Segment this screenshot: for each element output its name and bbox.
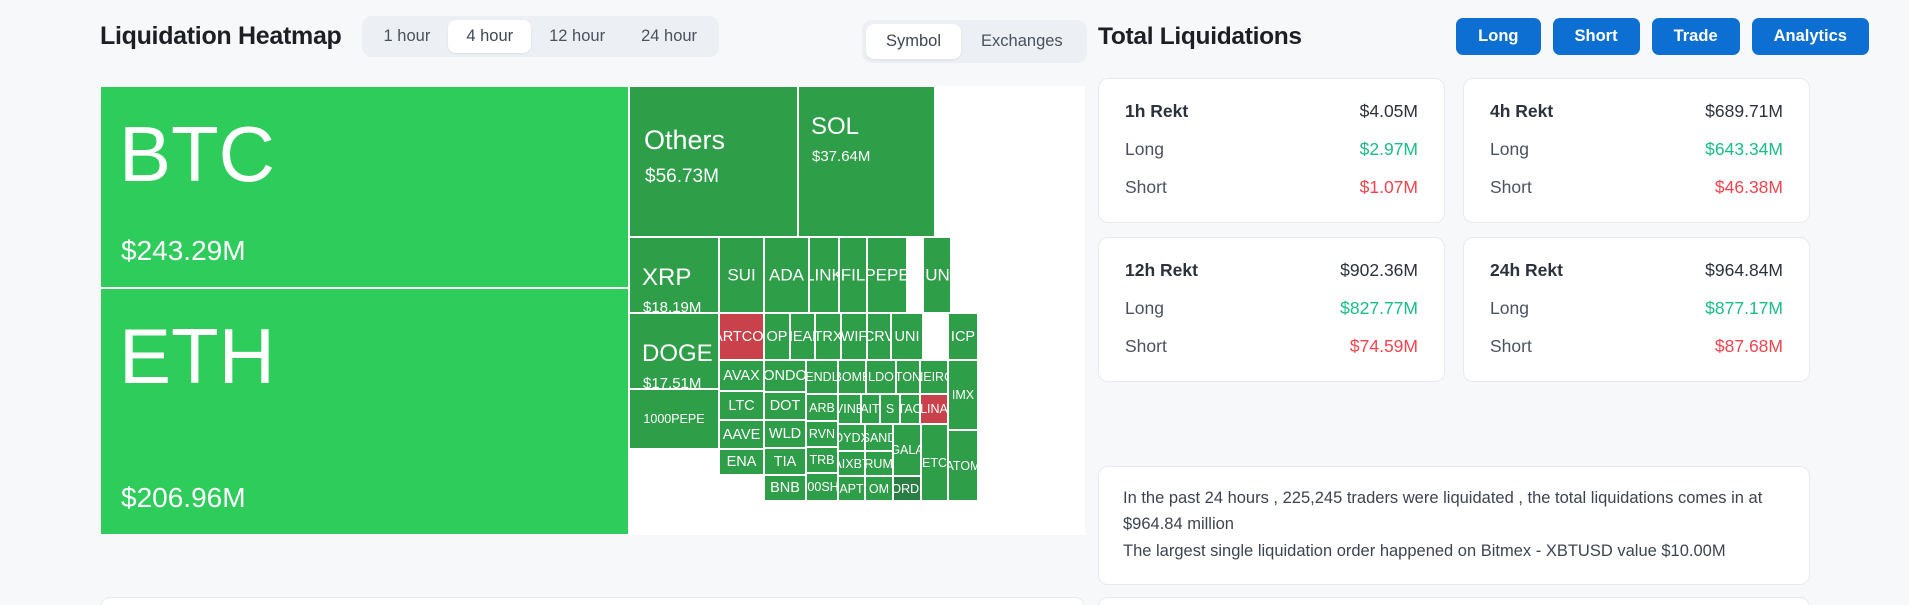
- tile-symbol: Others: [644, 127, 725, 154]
- tile-symbol: XRP: [642, 266, 691, 290]
- tile-symbol: LINA: [920, 403, 948, 416]
- treemap-tile-s[interactable]: S: [880, 394, 900, 424]
- treemap-tile-sand[interactable]: SAND: [865, 424, 893, 451]
- tile-value: $206.96M: [121, 484, 246, 512]
- tile-symbol: DYDX: [838, 431, 865, 444]
- treemap-tile-near[interactable]: NEAR: [790, 313, 815, 360]
- short-value: $1.07M: [1360, 177, 1418, 198]
- tile-symbol: ATOM: [948, 459, 978, 472]
- treemap-tile-lina[interactable]: LINA: [920, 394, 948, 424]
- tile-symbol: LINK: [809, 267, 839, 284]
- short-label: Short: [1490, 336, 1532, 357]
- treemap-tile-fartcoin[interactable]: FARTCOIN: [719, 313, 764, 360]
- rekt-long-row: Long $827.77M: [1125, 298, 1418, 319]
- tile-symbol: LDO: [868, 371, 894, 384]
- short-value: $46.38M: [1715, 177, 1783, 198]
- long-label: Long: [1125, 298, 1164, 319]
- treemap-tile-uni[interactable]: UNI: [891, 313, 923, 360]
- timeframe-1-hour[interactable]: 1 hour: [366, 20, 449, 53]
- rekt-total-value: $964.84M: [1705, 260, 1783, 281]
- tile-value: $17.51M: [643, 376, 701, 389]
- rekt-short-row: Short $74.59M: [1125, 336, 1418, 357]
- long-value: $2.97M: [1360, 139, 1418, 160]
- total-liquidations-header: Total Liquidations Long Short Trade Anal…: [1098, 18, 1869, 55]
- treemap-tile-wif[interactable]: WIF: [841, 313, 867, 360]
- below-fold-card-right: [1098, 597, 1810, 605]
- tile-symbol: TAO: [900, 403, 920, 416]
- tile-symbol: IMX: [952, 389, 974, 402]
- short-label: Short: [1125, 177, 1167, 198]
- liquidation-treemap[interactable]: BTC$243.29METH$206.96MOthers$56.73MSOL$3…: [100, 86, 1085, 535]
- liquidation-summary-card: In the past 24 hours , 225,245 traders w…: [1098, 466, 1810, 585]
- tile-symbol: ORDI: [893, 482, 921, 495]
- tile-symbol: TIA: [774, 454, 797, 469]
- treemap-tile-rvn[interactable]: RVN: [806, 421, 838, 447]
- treemap-tile-xrp[interactable]: XRP$18.19M: [629, 237, 719, 313]
- tile-symbol: ENA: [727, 455, 757, 470]
- treemap-tile-sui[interactable]: SUI: [719, 237, 764, 313]
- tile-symbol: AIXBT: [838, 457, 865, 470]
- tile-symbol: BOME: [838, 371, 866, 384]
- rekt-period-label: 1h Rekt: [1125, 101, 1188, 122]
- tile-symbol: TRUMP: [865, 457, 893, 470]
- rekt-card-4h: 4h Rekt $689.71M Long $643.34M Short $46…: [1463, 78, 1810, 223]
- tile-symbol: FARTCOIN: [719, 329, 764, 344]
- treemap-tile-kaito[interactable]: KAITO: [861, 394, 880, 424]
- treemap-tile-1000shib[interactable]: 1000SHIB: [806, 473, 838, 501]
- liquidation-dashboard: Liquidation Heatmap 1 hour 4 hour 12 hou…: [0, 0, 1909, 605]
- treemap-tile-icp[interactable]: ICP: [948, 313, 978, 360]
- tile-symbol: TRX: [815, 329, 841, 344]
- treemap-tile-ltc[interactable]: LTC: [719, 391, 764, 420]
- tile-symbol: UNI: [895, 329, 920, 344]
- tile-symbol: RVN: [809, 428, 835, 441]
- treemap-tile-gala[interactable]: GALA: [893, 424, 921, 476]
- tile-symbol: SAND: [865, 431, 893, 444]
- tile-value: $18.19M: [643, 300, 701, 313]
- rekt-short-row: Short $1.07M: [1125, 177, 1418, 198]
- treemap-tile-vine[interactable]: VINE: [838, 394, 861, 424]
- long-value: $827.77M: [1340, 298, 1418, 319]
- treemap-tile-tia[interactable]: TIA: [764, 448, 806, 475]
- tile-symbol: NEIRO: [920, 371, 948, 384]
- treemap-tile-pendle[interactable]: PENDLE: [806, 360, 838, 394]
- rekt-card-24h: 24h Rekt $964.84M Long $877.17M Short $8…: [1463, 237, 1810, 382]
- treemap-tile-bnb[interactable]: BNB: [764, 475, 806, 501]
- rekt-card-grid: 1h Rekt $4.05M Long $2.97M Short $1.07M …: [1098, 78, 1810, 382]
- short-label: Short: [1490, 177, 1532, 198]
- rekt-long-row: Long $2.97M: [1125, 139, 1418, 160]
- treemap-tile-tao[interactable]: TAO: [900, 394, 920, 424]
- treemap-tile-op[interactable]: OP: [764, 313, 790, 360]
- tile-symbol: TRB: [810, 454, 835, 467]
- tile-symbol: 1000PEPE: [643, 413, 704, 426]
- tile-symbol: PEPE: [867, 267, 907, 284]
- treemap-tile-sol[interactable]: SOL$37.64M: [798, 86, 935, 237]
- short-label: Short: [1125, 336, 1167, 357]
- tile-symbol: OP: [767, 329, 788, 344]
- treemap-tile-trx[interactable]: TRX: [815, 313, 841, 360]
- tile-symbol: DOT: [770, 399, 801, 414]
- tile-symbol: ETH: [119, 317, 275, 395]
- analytics-button[interactable]: Analytics: [1752, 18, 1869, 55]
- rekt-total-value: $4.05M: [1360, 101, 1418, 122]
- treemap-tile-ada[interactable]: ADA: [764, 237, 809, 313]
- summary-line-1: In the past 24 hours , 225,245 traders w…: [1123, 485, 1785, 538]
- treemap-tile-link[interactable]: LINK: [809, 237, 839, 313]
- short-button[interactable]: Short: [1553, 18, 1640, 55]
- treemap-tile-ldo[interactable]: LDO: [866, 360, 896, 394]
- tile-symbol: LTC: [728, 398, 754, 413]
- treemap-tile-dydx[interactable]: DYDX: [838, 424, 865, 451]
- treemap-tile-crv[interactable]: CRV: [867, 313, 891, 360]
- tile-symbol: FIL: [841, 267, 866, 284]
- tile-symbol: ICP: [951, 329, 975, 344]
- treemap-tile-imx[interactable]: IMX: [948, 360, 978, 430]
- trade-button[interactable]: Trade: [1652, 18, 1740, 55]
- long-button[interactable]: Long: [1456, 18, 1540, 55]
- treemap-tile-apt[interactable]: APT: [838, 476, 865, 501]
- treemap-tile-wld[interactable]: WLD: [764, 420, 806, 448]
- tile-symbol: NEAR: [790, 329, 815, 344]
- tile-symbol: 1000SHIB: [806, 481, 838, 494]
- rekt-card-12h: 12h Rekt $902.36M Long $827.77M Short $7…: [1098, 237, 1445, 382]
- tile-symbol: AAVE: [723, 427, 761, 442]
- rekt-period-label: 12h Rekt: [1125, 260, 1198, 281]
- timeframe-segmented-control: 1 hour 4 hour 12 hour 24 hour: [362, 16, 720, 57]
- tile-value: $37.64M: [812, 149, 870, 164]
- rekt-card-1h: 1h Rekt $4.05M Long $2.97M Short $1.07M: [1098, 78, 1445, 223]
- long-label: Long: [1125, 139, 1164, 160]
- tile-symbol: BNB: [770, 481, 800, 496]
- timeframe-4-hour[interactable]: 4 hour: [448, 20, 531, 53]
- treemap-tile-dot[interactable]: DOT: [764, 392, 806, 420]
- rekt-total-value: $689.71M: [1705, 101, 1783, 122]
- rekt-period-label: 4h Rekt: [1490, 101, 1553, 122]
- rekt-long-row: Long $643.34M: [1490, 139, 1783, 160]
- long-value: $643.34M: [1705, 139, 1783, 160]
- tile-value: $56.73M: [645, 167, 719, 186]
- treemap-tile-doge[interactable]: DOGE$17.51M: [629, 313, 719, 389]
- timeframe-24-hour[interactable]: 24 hour: [623, 20, 715, 53]
- tile-symbol: ADA: [769, 267, 804, 284]
- tile-value: $243.29M: [121, 237, 246, 265]
- tile-symbol: SUI: [727, 267, 755, 284]
- treemap-tile-arb[interactable]: ARB: [806, 394, 838, 421]
- rekt-total-row: 1h Rekt $4.05M: [1125, 101, 1418, 122]
- tile-symbol: RUNE: [923, 267, 951, 284]
- total-liquidations-title: Total Liquidations: [1098, 23, 1302, 51]
- tile-symbol: OM: [869, 482, 889, 495]
- tile-symbol: WLD: [769, 427, 801, 442]
- short-value: $87.68M: [1715, 336, 1783, 357]
- tile-symbol: BTC: [119, 115, 275, 193]
- treemap-tile-others[interactable]: Others$56.73M: [629, 86, 798, 237]
- tile-symbol: TON: [896, 371, 920, 384]
- summary-line-2: The largest single liquidation order hap…: [1123, 538, 1785, 564]
- treemap-tile-trump[interactable]: TRUMP: [865, 451, 893, 476]
- timeframe-12-hour[interactable]: 12 hour: [531, 20, 623, 53]
- rekt-short-row: Short $46.38M: [1490, 177, 1783, 198]
- rekt-short-row: Short $87.68M: [1490, 336, 1783, 357]
- tile-symbol: S: [886, 403, 894, 416]
- tile-symbol: ETC: [922, 456, 947, 469]
- rekt-total-value: $902.36M: [1340, 260, 1418, 281]
- treemap-tile-ondo[interactable]: ONDO: [764, 360, 806, 392]
- rekt-total-row: 24h Rekt $964.84M: [1490, 260, 1783, 281]
- heatmap-header: Liquidation Heatmap 1 hour 4 hour 12 hou…: [100, 16, 719, 57]
- treemap-tile-pepe[interactable]: PEPE: [867, 237, 907, 313]
- tile-symbol: ONDO: [764, 369, 806, 384]
- treemap-tile-atom[interactable]: ATOM: [948, 430, 978, 501]
- rekt-total-row: 4h Rekt $689.71M: [1490, 101, 1783, 122]
- rekt-period-label: 24h Rekt: [1490, 260, 1563, 281]
- treemap-tile-avax[interactable]: AVAX: [719, 360, 764, 391]
- long-value: $877.17M: [1705, 298, 1783, 319]
- treemap-tile-ena[interactable]: ENA: [719, 449, 764, 475]
- treemap-tile-aixbt[interactable]: AIXBT: [838, 451, 865, 476]
- rekt-total-row: 12h Rekt $902.36M: [1125, 260, 1418, 281]
- tile-symbol: PENDLE: [806, 371, 838, 384]
- long-label: Long: [1490, 139, 1529, 160]
- treemap-tile-aave[interactable]: AAVE: [719, 420, 764, 449]
- treemap-tile-ordi[interactable]: ORDI: [893, 476, 921, 501]
- treemap-tile-ton[interactable]: TON: [896, 360, 920, 394]
- rekt-long-row: Long $877.17M: [1490, 298, 1783, 319]
- tile-symbol: WIF: [841, 329, 867, 344]
- page-title: Liquidation Heatmap: [100, 22, 342, 51]
- treemap-tile-fil[interactable]: FIL: [839, 237, 867, 313]
- treemap-tile-1000pepe[interactable]: 1000PEPE: [629, 389, 719, 449]
- tile-symbol: AVAX: [723, 368, 760, 383]
- treemap-tile-trb[interactable]: TRB: [806, 447, 838, 473]
- treemap-tile-rune[interactable]: RUNE: [923, 237, 951, 313]
- tile-symbol: KAITO: [861, 403, 880, 416]
- tile-symbol: DOGE: [642, 342, 713, 366]
- tile-symbol: VINE: [838, 403, 861, 416]
- long-label: Long: [1490, 298, 1529, 319]
- treemap-tile-etc[interactable]: ETC: [921, 424, 948, 501]
- treemap-tile-btc[interactable]: BTC$243.29M: [100, 86, 629, 288]
- treemap-tile-bome[interactable]: BOME: [838, 360, 866, 394]
- grouping-exchanges[interactable]: Exchanges: [961, 24, 1083, 59]
- treemap-tile-om[interactable]: OM: [865, 476, 893, 501]
- treemap-tile-neiro[interactable]: NEIRO: [920, 360, 948, 394]
- treemap-tile-eth[interactable]: ETH$206.96M: [100, 288, 629, 535]
- tile-symbol: SOL: [811, 115, 859, 139]
- grouping-segmented-control: Symbol Exchanges: [862, 20, 1087, 63]
- action-button-group: Long Short Trade Analytics: [1456, 18, 1869, 55]
- grouping-symbol[interactable]: Symbol: [866, 24, 961, 59]
- tile-symbol: APT: [839, 482, 863, 495]
- short-value: $74.59M: [1350, 336, 1418, 357]
- below-fold-card-left: [100, 597, 1085, 605]
- tile-symbol: GALA: [893, 444, 921, 457]
- tile-symbol: ARB: [809, 401, 835, 414]
- tile-symbol: CRV: [867, 329, 891, 344]
